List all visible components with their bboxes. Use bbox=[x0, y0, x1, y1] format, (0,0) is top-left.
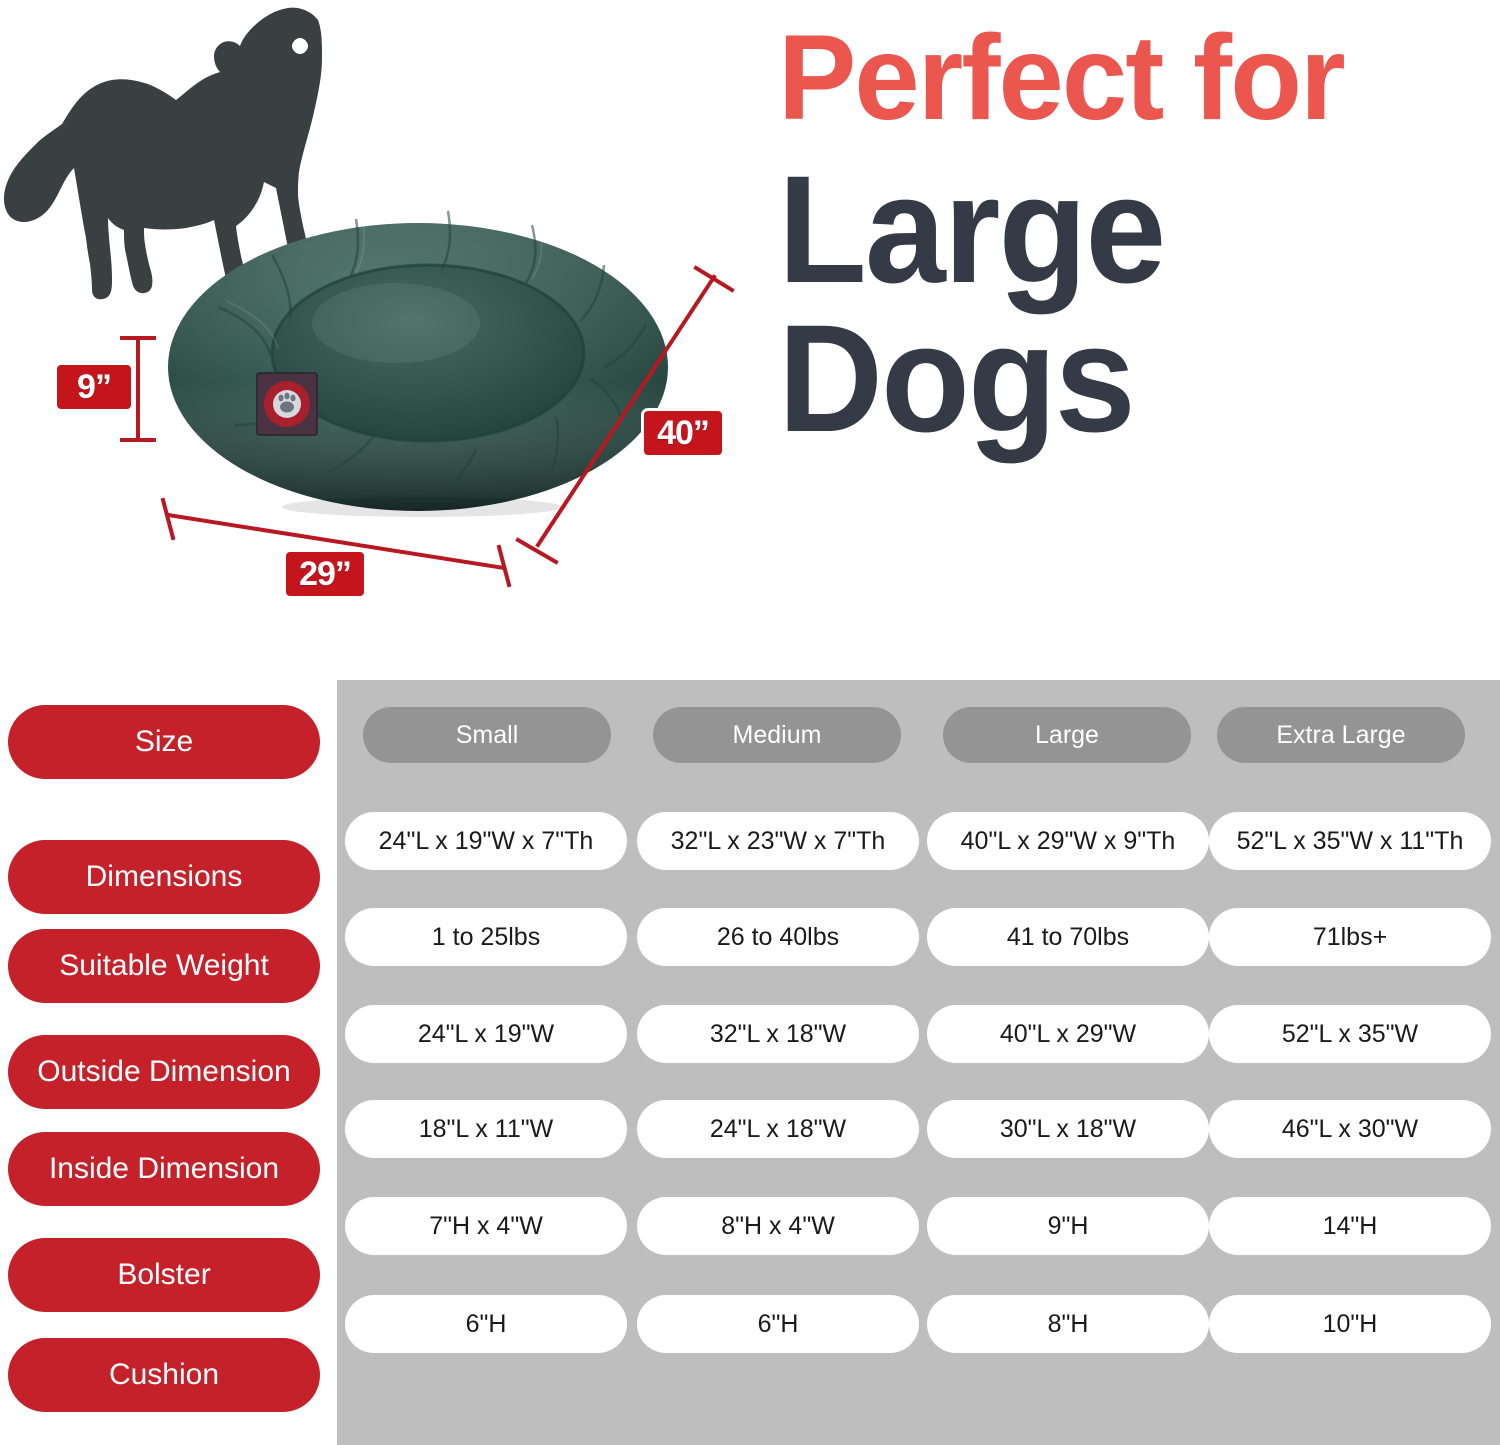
size-spec-table: SizeDimensionsSuitable WeightOutside Dim… bbox=[0, 680, 1500, 1445]
table-cell: 14"H bbox=[1209, 1197, 1491, 1255]
table-grid: SmallMediumLargeExtra Large24"L x 19"W x… bbox=[337, 680, 1500, 1445]
table-cell: 71lbs+ bbox=[1209, 908, 1491, 966]
row-label-size: Size bbox=[8, 705, 320, 779]
table-cell: 41 to 70lbs bbox=[927, 908, 1209, 966]
table-cell: 24"L x 18"W bbox=[637, 1100, 919, 1158]
table-cell: 7"H x 4"W bbox=[345, 1197, 627, 1255]
table-cell: 46"L x 30"W bbox=[1209, 1100, 1491, 1158]
row-label-bolster: Bolster bbox=[8, 1238, 320, 1312]
table-cell: 40"L x 29"W x 9"Th bbox=[927, 812, 1209, 870]
table-cell: 6"H bbox=[637, 1295, 919, 1353]
table-cell: 8"H bbox=[927, 1295, 1209, 1353]
dimension-lines bbox=[0, 0, 780, 620]
hero-banner: 9” 40” 29” Perfect for Large Dogs bbox=[0, 0, 1500, 680]
row-label-dimensions: Dimensions bbox=[8, 840, 320, 914]
column-header-medium: Medium bbox=[653, 707, 901, 763]
table-cell: 40"L x 29"W bbox=[927, 1005, 1209, 1063]
column-header-extra-large: Extra Large bbox=[1217, 707, 1465, 763]
headline-block: Perfect for Large Dogs bbox=[778, 20, 1490, 452]
headline-line-2: Large bbox=[778, 157, 1454, 302]
headline-line-1: Perfect for bbox=[778, 20, 1469, 135]
row-label-suitable-weight: Suitable Weight bbox=[8, 929, 320, 1003]
column-header-large: Large bbox=[943, 707, 1191, 763]
table-cell: 24"L x 19"W bbox=[345, 1005, 627, 1063]
row-label-column: SizeDimensionsSuitable WeightOutside Dim… bbox=[0, 680, 337, 1445]
table-cell: 52"L x 35"W x 11"Th bbox=[1209, 812, 1491, 870]
row-label-cushion: Cushion bbox=[8, 1338, 320, 1412]
table-cell: 18"L x 11"W bbox=[345, 1100, 627, 1158]
table-cell: 32"L x 23"W x 7"Th bbox=[637, 812, 919, 870]
width-callout-badge: 29” bbox=[283, 549, 367, 599]
table-cell: 9"H bbox=[927, 1197, 1209, 1255]
table-cell: 52"L x 35"W bbox=[1209, 1005, 1491, 1063]
headline-line-3: Dogs bbox=[778, 306, 1454, 451]
height-callout-badge: 9” bbox=[54, 362, 134, 412]
table-cell: 24"L x 19"W x 7"Th bbox=[345, 812, 627, 870]
table-cell: 1 to 25lbs bbox=[345, 908, 627, 966]
table-cell: 8"H x 4"W bbox=[637, 1197, 919, 1255]
table-cell: 26 to 40lbs bbox=[637, 908, 919, 966]
column-header-small: Small bbox=[363, 707, 611, 763]
row-label-outside-dimension: Outside Dimension bbox=[8, 1035, 320, 1109]
table-cell: 10"H bbox=[1209, 1295, 1491, 1353]
row-label-inside-dimension: Inside Dimension bbox=[8, 1132, 320, 1206]
table-cell: 6"H bbox=[345, 1295, 627, 1353]
length-callout-badge: 40” bbox=[641, 408, 725, 458]
table-cell: 32"L x 18"W bbox=[637, 1005, 919, 1063]
table-cell: 30"L x 18"W bbox=[927, 1100, 1209, 1158]
